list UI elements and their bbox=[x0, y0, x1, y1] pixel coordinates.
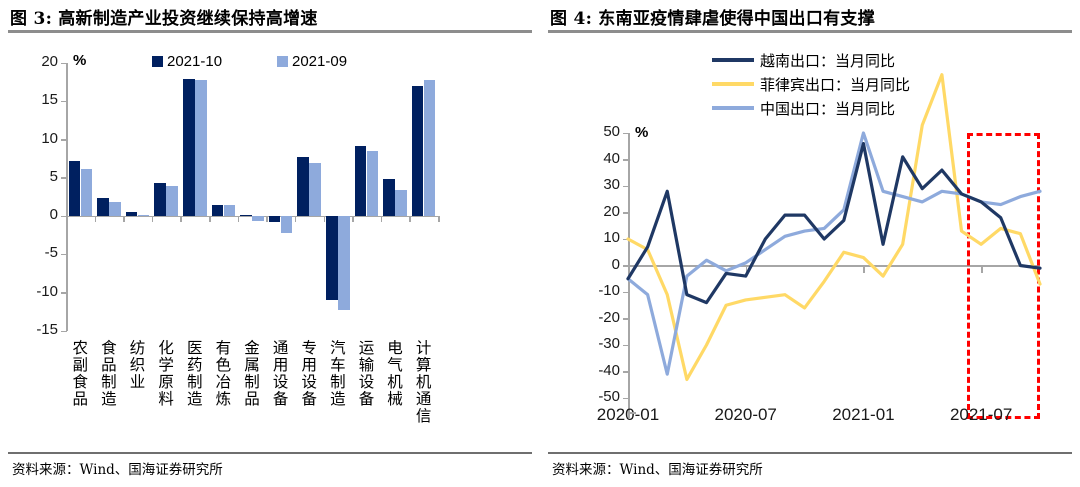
figure-4-bottom-rule bbox=[548, 452, 1072, 454]
x-axis-category-label: 纺织业 bbox=[127, 340, 149, 391]
x-axis-tick bbox=[123, 216, 125, 222]
figure-4-panel: 图 4:东南亚疫情肆虐使得中国出口有支撑 越南出口：当月同比 菲律宾出口：当月同… bbox=[540, 0, 1080, 487]
bar-2021-10-食品制造 bbox=[97, 198, 109, 216]
x-axis-category-label: 专用设备 bbox=[298, 340, 320, 408]
x-axis-tick bbox=[381, 216, 383, 222]
x-axis-tick bbox=[266, 216, 268, 222]
y-axis-tick-label: 10 bbox=[8, 130, 58, 147]
x-axis-category-label: 运输设备 bbox=[355, 340, 377, 408]
bar-2021-09-汽车制造 bbox=[338, 216, 350, 310]
bar-2021-10-金属制品 bbox=[240, 215, 252, 216]
bar-2021-10-计算机通信 bbox=[412, 86, 424, 216]
bar-2021-09-农副食品 bbox=[81, 169, 93, 216]
x-axis-tick bbox=[352, 216, 354, 222]
figure-3-plot: % 20151050-5-10-15农副食品食品制造纺织业化学原料医药制造有色冶… bbox=[0, 0, 540, 487]
x-axis-tick bbox=[295, 216, 297, 222]
report-figures-page: 图 3:高新制造产业投资继续保持高增速 2021-10 2021-09 % 20… bbox=[0, 0, 1080, 487]
bar-2021-10-汽车制造 bbox=[326, 216, 338, 300]
figure-3-source: 资料来源：Wind、国海证券研究所 bbox=[12, 458, 223, 478]
bar-2021-09-金属制品 bbox=[252, 216, 264, 221]
y-axis-tick-label: -15 bbox=[8, 321, 58, 338]
bar-2021-10-医药制造 bbox=[183, 79, 195, 216]
x-axis-category-label: 有色冶炼 bbox=[212, 340, 234, 408]
bar-2021-10-运输设备 bbox=[355, 146, 367, 216]
y-axis-tick-label: -10 bbox=[8, 283, 58, 300]
x-axis-tick bbox=[209, 216, 211, 222]
y-axis-tick-label: 15 bbox=[8, 91, 58, 108]
x-axis-category-label: 金属制品 bbox=[241, 340, 263, 408]
y-axis-tick bbox=[61, 292, 67, 294]
bar-2021-09-专用设备 bbox=[309, 163, 321, 216]
x-axis-tick bbox=[152, 216, 154, 222]
x-axis-category-label: 通用设备 bbox=[270, 340, 292, 408]
x-axis-tick bbox=[95, 216, 97, 222]
bar-2021-10-电气机械 bbox=[383, 179, 395, 217]
x-axis-category-label: 化学原料 bbox=[155, 340, 177, 408]
bar-2021-10-化学原料 bbox=[154, 183, 166, 216]
bar-2021-10-通用设备 bbox=[269, 216, 281, 221]
bar-2021-09-电气机械 bbox=[395, 190, 407, 216]
bar-2021-10-有色冶炼 bbox=[212, 205, 224, 216]
x-axis-tick bbox=[180, 216, 182, 222]
y-axis-tick-label: 5 bbox=[8, 168, 58, 185]
y-axis-tick bbox=[61, 63, 67, 65]
figure-4-plot: % 50403020100-10-20-30-40-502020-012020-… bbox=[540, 0, 1080, 487]
x-axis-category-label: 农副食品 bbox=[69, 340, 91, 408]
bar-2021-09-通用设备 bbox=[281, 216, 293, 233]
y-axis-tick-label: -5 bbox=[8, 244, 58, 261]
bar-2021-09-运输设备 bbox=[367, 151, 379, 216]
line-series-菲律宾出口：当月同比 bbox=[628, 75, 1040, 380]
y-axis-tick-label: 0 bbox=[8, 206, 58, 223]
y-axis-line bbox=[66, 63, 68, 331]
x-axis-tick bbox=[409, 216, 411, 222]
figure-3-bottom-rule bbox=[8, 452, 532, 454]
bar-2021-09-计算机通信 bbox=[424, 80, 436, 216]
bar-2021-10-专用设备 bbox=[297, 157, 309, 216]
x-axis-tick bbox=[438, 216, 440, 222]
x-axis-tick bbox=[66, 216, 68, 222]
y-axis-tick bbox=[61, 254, 67, 256]
x-axis-category-label: 电气机械 bbox=[384, 340, 406, 408]
x-axis-category-label: 汽车制造 bbox=[327, 340, 349, 408]
bar-2021-10-纺织业 bbox=[126, 212, 138, 216]
bar-2021-09-纺织业 bbox=[138, 215, 150, 217]
y-axis-tick bbox=[61, 139, 67, 141]
figure-4-source: 资料来源：Wind、国海证券研究所 bbox=[552, 458, 763, 478]
figure-3-panel: 图 3:高新制造产业投资继续保持高增速 2021-10 2021-09 % 20… bbox=[0, 0, 540, 487]
y-axis-tick bbox=[61, 177, 67, 179]
x-axis-category-label: 计算机通信 bbox=[413, 340, 435, 425]
y-axis-tick bbox=[61, 331, 67, 333]
y-axis-unit-label: % bbox=[73, 52, 86, 69]
line-series-canvas bbox=[540, 0, 1080, 487]
bar-2021-10-农副食品 bbox=[69, 161, 81, 216]
x-axis-tick bbox=[238, 216, 240, 222]
bar-2021-09-食品制造 bbox=[109, 202, 121, 217]
x-axis-tick bbox=[324, 216, 326, 222]
line-series-中国出口：当月同比 bbox=[628, 133, 1040, 374]
bar-2021-09-化学原料 bbox=[166, 186, 178, 217]
y-axis-tick bbox=[61, 101, 67, 103]
x-axis-category-label: 医药制造 bbox=[184, 340, 206, 408]
bar-2021-09-医药制造 bbox=[195, 80, 207, 216]
x-axis-category-label: 食品制造 bbox=[98, 340, 120, 408]
line-series-越南出口：当月同比 bbox=[628, 144, 1040, 303]
y-axis-tick-label: 20 bbox=[8, 53, 58, 70]
bar-2021-09-有色冶炼 bbox=[224, 205, 236, 216]
